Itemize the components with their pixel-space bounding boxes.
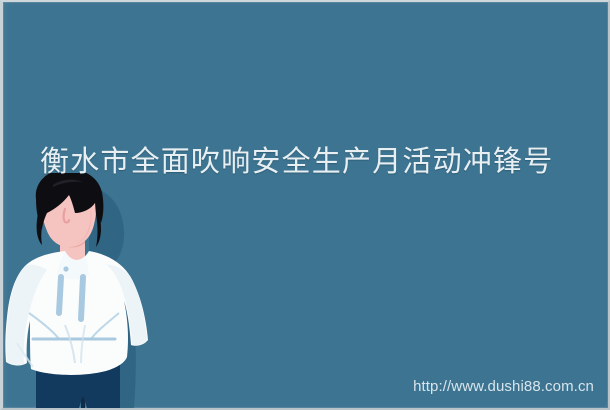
article-cover-card: 衡水市全面吹响安全生产月活动冲锋号 http://www.dushi88.com… <box>0 0 610 410</box>
illustration-person-in-white-hoodie <box>3 173 178 408</box>
hood-eyelet <box>63 266 68 271</box>
page-title: 衡水市全面吹响安全生产月活动冲锋号 <box>40 144 600 180</box>
source-watermark: http://www.dushi88.com.cn <box>413 378 594 396</box>
hood-drawstring-left <box>59 277 61 313</box>
hood-drawstring-right <box>81 277 83 319</box>
